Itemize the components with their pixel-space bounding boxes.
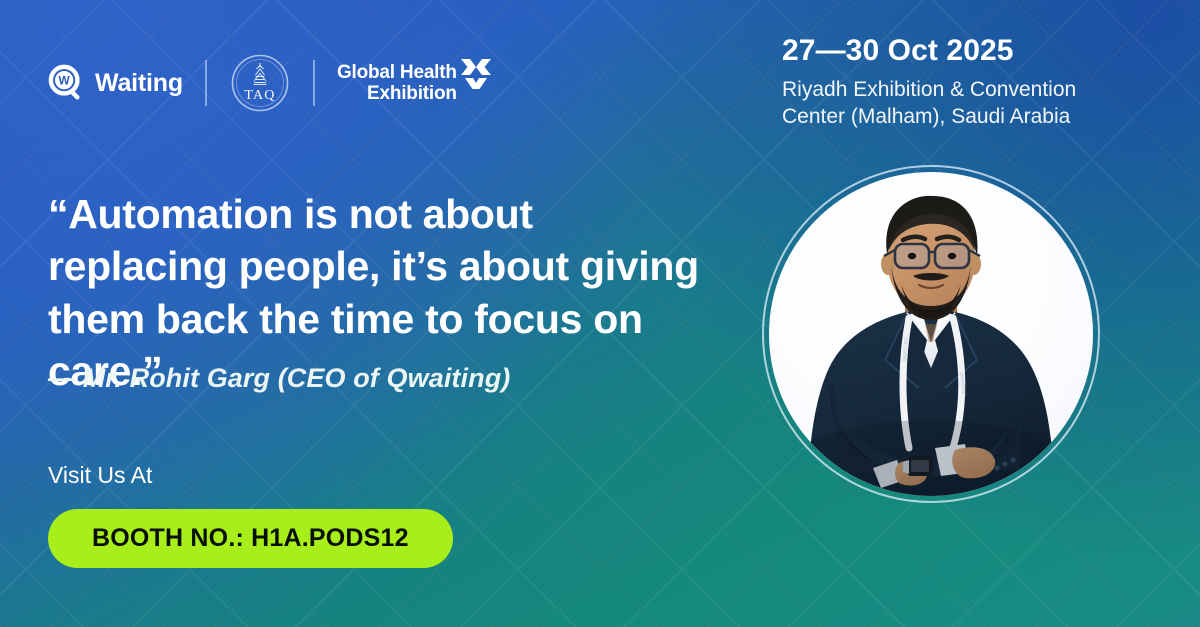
event-venue-line-2: Center (Malham), Saudi Arabia <box>782 103 1152 131</box>
ghe-line-1: Global Health <box>337 62 457 83</box>
logo-divider-1 <box>205 60 207 106</box>
taq-logo: TAQ <box>229 52 291 114</box>
quote-attribution: — Mr. Rohit Garg (CEO of Qwaiting) <box>48 363 510 394</box>
visit-us-label: Visit Us At <box>48 462 152 489</box>
event-venue: Riyadh Exhibition & Convention Center (M… <box>782 76 1152 131</box>
logo-bar: W Waiting T <box>48 52 493 114</box>
portrait-disc: QWAITING QWAITING <box>769 172 1093 496</box>
portrait: QWAITING QWAITING <box>762 165 1100 503</box>
logo-divider-2 <box>313 60 315 106</box>
exhibition-x-icon <box>459 56 493 90</box>
event-dates: 27—30 Oct 2025 <box>782 34 1152 69</box>
event-venue-line-1: Riyadh Exhibition & Convention <box>782 76 1152 104</box>
qwaiting-magnifier-icon: W <box>48 64 86 102</box>
qwaiting-logo[interactable]: W Waiting <box>48 64 183 102</box>
svg-text:TAQ: TAQ <box>244 88 275 103</box>
ghe-line-2: Exhibition <box>337 83 457 104</box>
booth-number-badge[interactable]: BOOTH NO.: H1A.PODS12 <box>48 509 453 568</box>
svg-text:W: W <box>59 74 71 88</box>
global-health-exhibition-wordmark: Global Health Exhibition <box>337 62 457 105</box>
promo-banner: W Waiting T <box>0 0 1200 627</box>
portrait-illustration: QWAITING QWAITING <box>769 172 1093 496</box>
qwaiting-wordmark: Waiting <box>95 71 183 96</box>
global-health-exhibition-logo[interactable]: Global Health Exhibition <box>337 62 493 105</box>
event-info: 27—30 Oct 2025 Riyadh Exhibition & Conve… <box>782 34 1152 131</box>
booth-number-text: BOOTH NO.: H1A.PODS12 <box>92 524 409 552</box>
